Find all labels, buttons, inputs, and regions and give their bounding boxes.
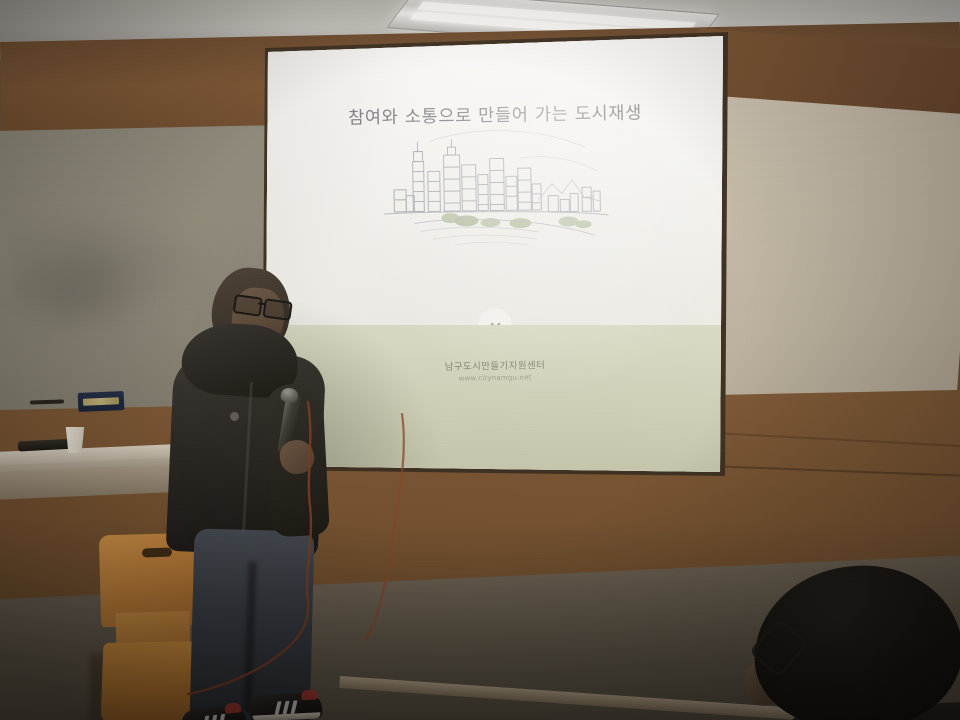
audience-member (742, 566, 960, 720)
lecture-room-photo: 참여와 소통으로 만들어 가는 도시재생 (0, 0, 960, 720)
presenter-standing (160, 262, 360, 720)
wall-plaque (78, 391, 125, 412)
presenter-shoe-right (249, 692, 322, 720)
city-skyline-illustration (369, 117, 621, 255)
wall-smudge-secondary (0, 250, 150, 340)
jacket-badge (230, 412, 239, 421)
